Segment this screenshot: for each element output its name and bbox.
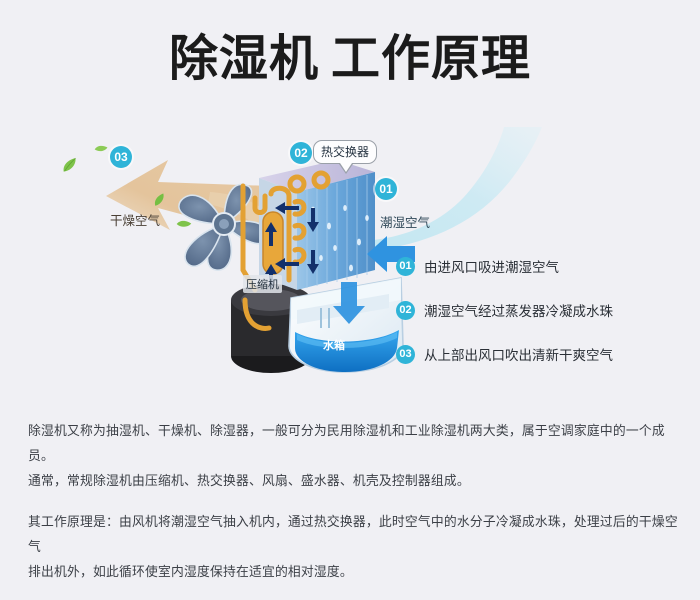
legend-badge-01: 01 (396, 257, 415, 276)
diagram-badge-01: 01 (375, 178, 397, 200)
paragraph-one-line-two: 通常，常规除湿机由压缩机、热交换器、风扇、盛水器、机壳及控制器组成。 (28, 468, 678, 493)
legend-text-01: 由进风口吸进潮湿空气 (424, 256, 559, 276)
paragraph-two: 其工作原理是：由风机将潮湿空气抽入机内，通过热交换器，此时空气中的水分子冷凝成水… (28, 509, 678, 584)
legend-badge-02: 02 (396, 301, 415, 320)
callout-heat-exchanger-label: 热交换器 (321, 145, 369, 159)
diagram-badge-02: 02 (290, 142, 312, 164)
diagram-badge-03: 03 (110, 146, 132, 168)
legend-item: 03 从上部出风口吹出清新干爽空气 (396, 343, 686, 365)
paragraph-one: 除湿机又称为抽湿机、干燥机、除湿器，一般可分为民用除湿机和工业除湿机两大类，属于… (28, 418, 678, 493)
legend-item: 01 由进风口吸进潮湿空气 (396, 255, 686, 277)
leaf-icon (95, 138, 110, 150)
description-block: 除湿机又称为抽湿机、干燥机、除湿器，一般可分为民用除湿机和工业除湿机两大类，属于… (28, 418, 678, 600)
legend-text-03: 从上部出风口吹出清新干爽空气 (424, 344, 613, 364)
label-dry-air: 干燥空气 (110, 210, 160, 229)
process-legend: 01 由进风口吸进潮湿空气 02 潮湿空气经过蒸发器冷凝成水珠 03 从上部出风… (396, 255, 686, 387)
label-water-tank: 水箱 (323, 337, 345, 353)
paragraph-two-line-one: 其工作原理是：由风机将潮湿空气抽入机内，通过热交换器，此时空气中的水分子冷凝成水… (28, 509, 678, 559)
paragraph-two-line-two: 排出机外，如此循环使室内湿度保持在适宜的相对湿度。 (28, 559, 678, 584)
legend-badge-03: 03 (396, 345, 415, 364)
paragraph-one-line-one: 除湿机又称为抽湿机、干燥机、除湿器，一般可分为民用除湿机和工业除湿机两大类，属于… (28, 418, 678, 468)
legend-item: 02 潮湿空气经过蒸发器冷凝成水珠 (396, 299, 686, 321)
label-humid-air: 潮湿空气 (380, 212, 430, 231)
title-part-two: 工作原理 (331, 32, 531, 86)
label-compressor: 压缩机 (243, 275, 282, 293)
title-part-one: 除湿机 (169, 32, 319, 86)
callout-heat-exchanger: 热交换器 (313, 140, 377, 164)
page-title: 除湿机工作原理 (0, 30, 700, 88)
legend-text-02: 潮湿空气经过蒸发器冷凝成水珠 (424, 300, 613, 320)
page-root: 除湿机工作原理 (0, 0, 700, 566)
